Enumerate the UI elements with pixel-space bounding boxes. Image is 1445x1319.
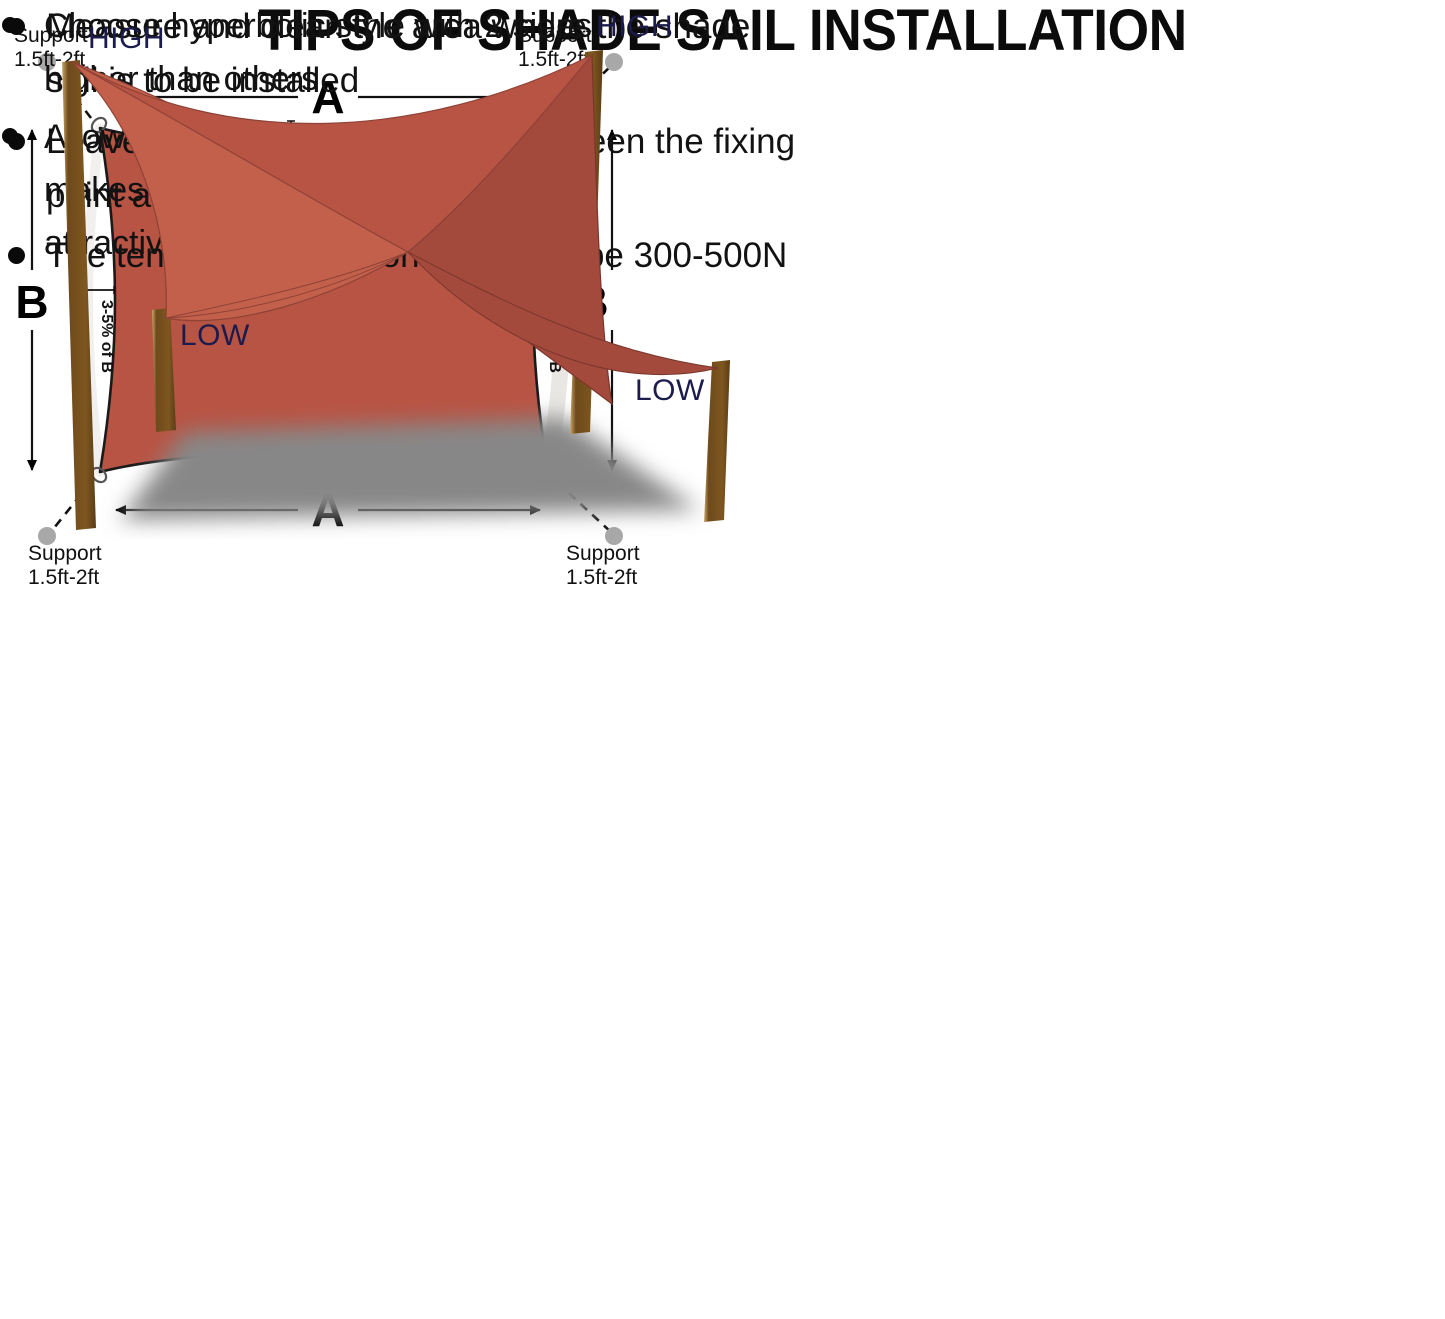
ground-shadow bbox=[120, 418, 700, 520]
support-label-bottom-right: Support 1.5ft-2ft bbox=[566, 542, 640, 589]
support-label-line1: Support bbox=[566, 542, 640, 565]
support-label-line2: 1.5ft-2ft bbox=[28, 566, 99, 589]
post-high-left bbox=[62, 60, 96, 530]
label-high-left: HIGH bbox=[88, 22, 165, 55]
label-low-right: LOW bbox=[635, 374, 705, 407]
hyperbolic-sail-illustration: HIGH HIGH LOW LOW bbox=[0, 0, 785, 539]
post-low-left bbox=[152, 308, 176, 432]
support-label-bottom-left: Support 1.5ft-2ft bbox=[28, 542, 102, 589]
post-low-right bbox=[704, 360, 730, 522]
label-low-left: LOW bbox=[180, 319, 250, 352]
support-label-line1: Support bbox=[28, 542, 102, 565]
label-high-right: HIGH bbox=[596, 10, 673, 43]
support-label-line2: 1.5ft-2ft bbox=[566, 566, 637, 589]
